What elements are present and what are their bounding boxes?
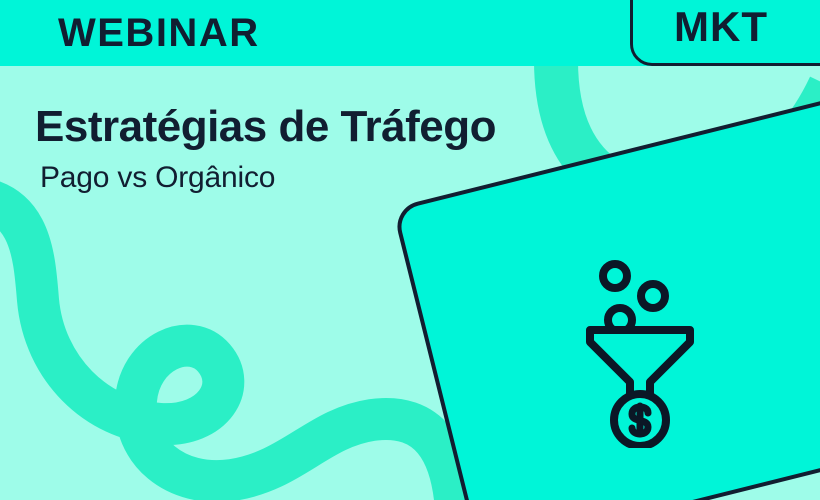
webinar-banner: WEBINAR MKT Estratégias de Tráfego Pago … <box>0 0 820 500</box>
page-subtitle: Pago vs Orgânico <box>40 158 496 198</box>
funnel-dollar-icon <box>580 258 700 448</box>
page-title: Estratégias de Tráfego <box>35 100 496 154</box>
bubble-circle-2 <box>641 284 665 308</box>
title-block: Estratégias de Tráfego Pago vs Orgânico <box>35 100 496 198</box>
mkt-badge: MKT <box>630 0 820 66</box>
mkt-badge-label: MKT <box>633 3 809 51</box>
bubble-circle-1 <box>603 264 627 288</box>
webinar-eyebrow-label: WEBINAR <box>58 6 260 60</box>
